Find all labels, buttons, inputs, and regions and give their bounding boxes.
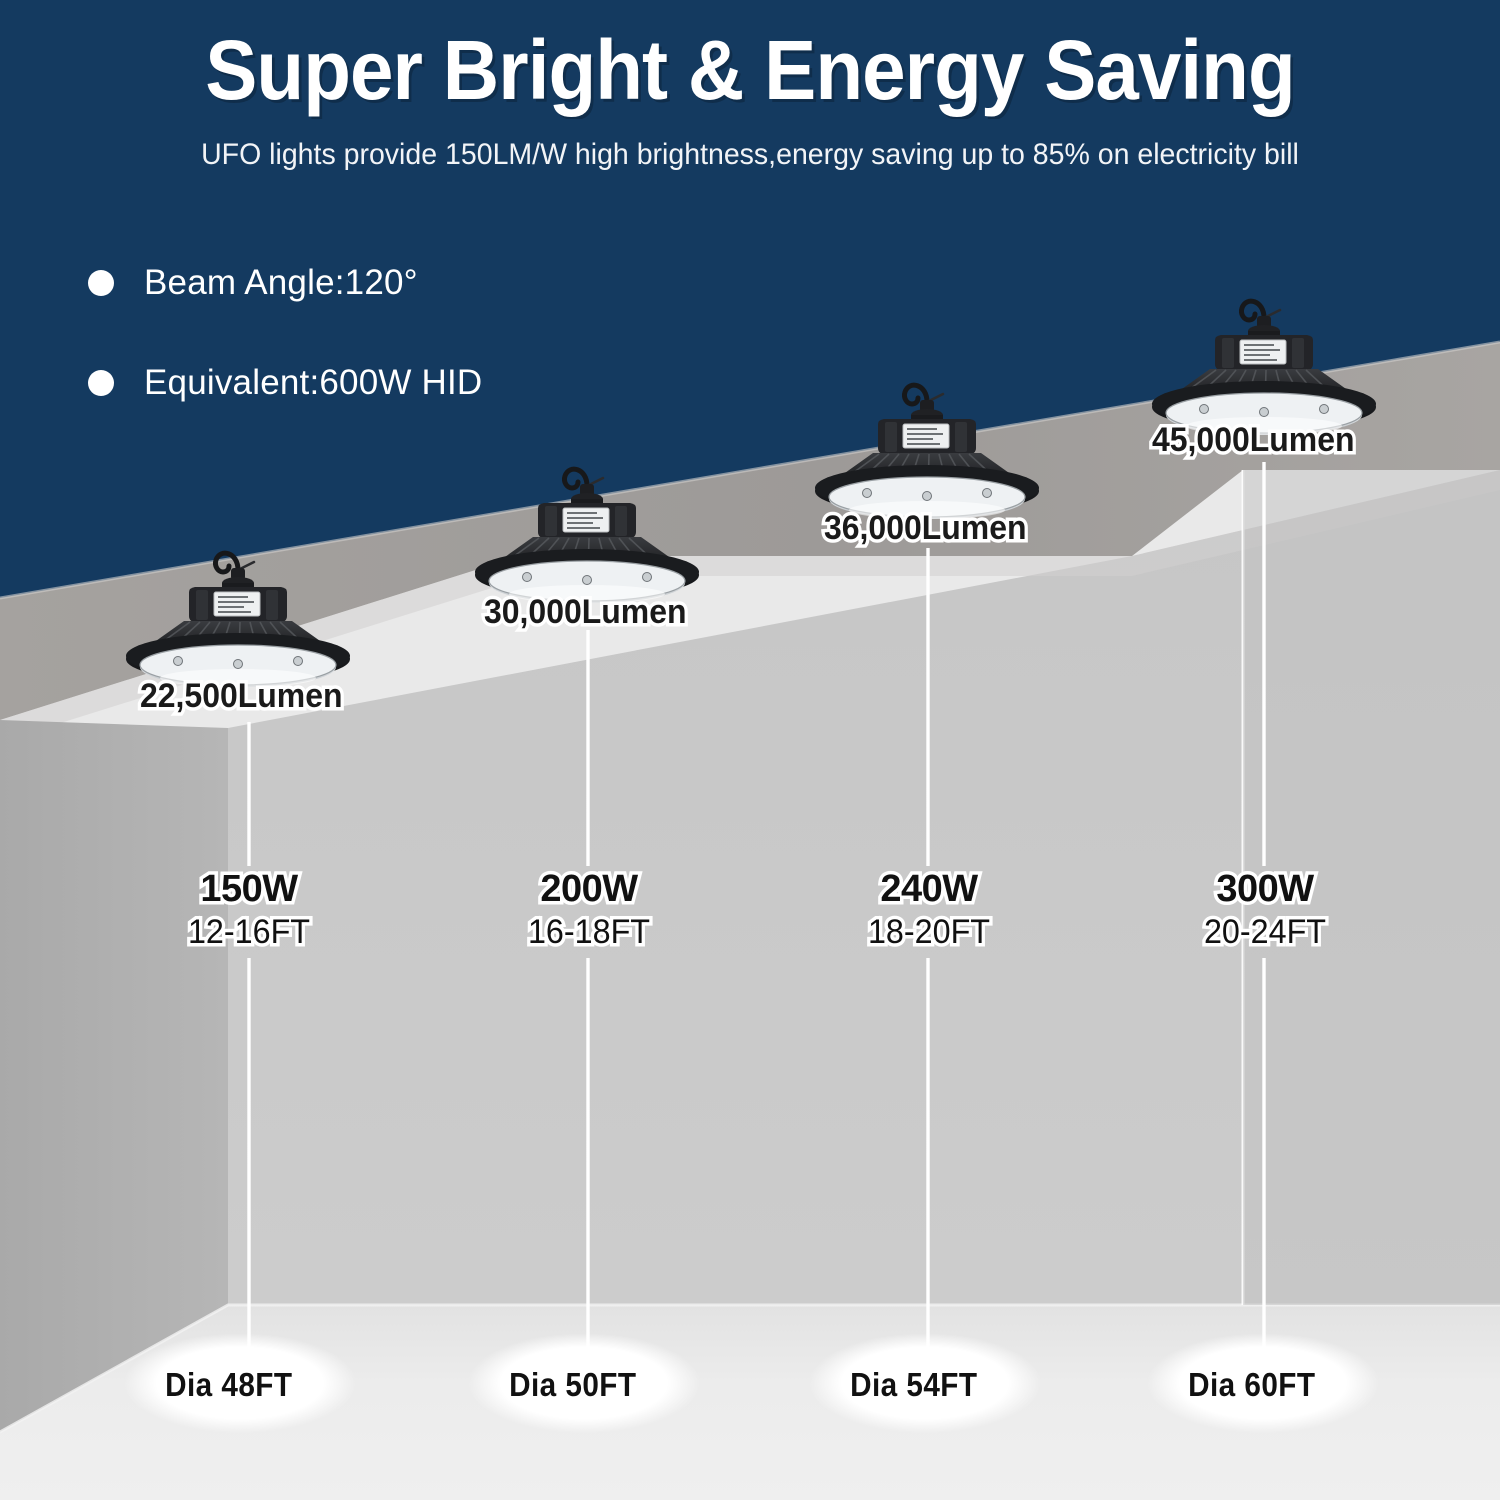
lumen-label-4: 45,000Lumen	[1152, 421, 1355, 460]
bullet-circle-icon	[88, 370, 114, 396]
feature-list: Beam Angle:120° Equivalent:600W HID	[88, 262, 482, 462]
feature-item-beam-angle: Beam Angle:120°	[88, 262, 482, 304]
height-label-4: 20-24FT	[1170, 913, 1360, 952]
diameter-label-2: Dia 50FT	[509, 1366, 636, 1404]
feature-label-equivalent: Equivalent:600W HID	[144, 363, 482, 403]
watt-label-1: 150W	[149, 868, 349, 911]
height-label-3: 18-20FT	[834, 913, 1024, 952]
spec-block-2: 200W 16-18FT	[489, 868, 689, 952]
page-title: Super Bright & Energy Saving	[53, 22, 1448, 119]
watt-label-2: 200W	[489, 868, 689, 911]
diameter-label-3: Dia 54FT	[850, 1366, 977, 1404]
diameter-label-1: Dia 48FT	[165, 1366, 292, 1404]
feature-item-equivalent: Equivalent:600W HID	[88, 362, 482, 404]
infographic-page: Super Bright & Energy Saving UFO lights …	[0, 0, 1500, 1500]
height-label-1: 12-16FT	[154, 913, 344, 952]
spec-block-3: 240W 18-20FT	[829, 868, 1029, 952]
diameter-label-4: Dia 60FT	[1188, 1366, 1315, 1404]
room-scene	[0, 0, 1500, 1500]
spec-block-1: 150W 12-16FT	[149, 868, 349, 952]
spec-block-4: 300W 20-24FT	[1165, 868, 1365, 952]
watt-label-3: 240W	[829, 868, 1029, 911]
feature-label-beam-angle: Beam Angle:120°	[144, 263, 418, 303]
watt-label-4: 300W	[1165, 868, 1365, 911]
bullet-circle-icon	[88, 270, 114, 296]
height-label-2: 16-18FT	[494, 913, 684, 952]
page-subtitle: UFO lights provide 150LM/W high brightne…	[38, 138, 1463, 172]
lumen-label-3: 36,000Lumen	[824, 509, 1027, 548]
lumen-label-1: 22,500Lumen	[140, 677, 343, 716]
lumen-label-2: 30,000Lumen	[484, 593, 687, 632]
